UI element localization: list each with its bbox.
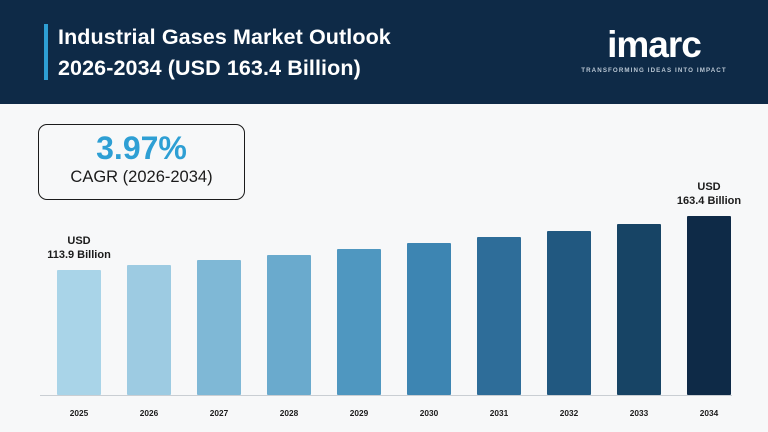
x-tick-2026: 2026 [127,408,171,418]
bar-2028 [267,255,311,395]
imarc-logo: imarc TRANSFORMING IDEAS INTO IMPACT [574,26,734,74]
bar-rect [267,255,311,395]
logo-wordmark: imarc [574,26,734,64]
title-accent-bar [44,24,48,80]
x-tick-2028: 2028 [267,408,311,418]
x-tick-2029: 2029 [337,408,381,418]
x-tick-2034: 2034 [687,408,731,418]
bar-2026 [127,265,171,395]
page-title-line1: Industrial Gases Market Outlook [58,25,391,49]
start-callout-line1: USD [29,235,129,249]
bar-2033 [617,224,661,395]
bar-rect [337,249,381,395]
x-tick-2032: 2032 [547,408,591,418]
logo-tagline: TRANSFORMING IDEAS INTO IMPACT [574,67,734,74]
x-tick-2031: 2031 [477,408,521,418]
x-tick-2025: 2025 [57,408,101,418]
x-tick-2030: 2030 [407,408,451,418]
infographic-page: Industrial Gases Market Outlook 2026-203… [0,0,768,432]
end-callout-line1: USD [659,181,759,195]
x-tick-2033: 2033 [617,408,661,418]
bar-rect [57,270,101,395]
bar-chart: USD 113.9 Billion USD 163.4 Billion 2025… [0,104,768,432]
bar-2034 [687,216,731,395]
bar-2027 [197,260,241,395]
x-tick-2027: 2027 [197,408,241,418]
bar-rect [617,224,661,395]
end-callout-line2: 163.4 Billion [659,195,759,209]
page-title: Industrial Gases Market Outlook 2026-203… [58,22,528,84]
bar-2025 [57,270,101,395]
bar-rect [127,265,171,395]
x-axis-line [40,395,732,396]
bar-rect [197,260,241,395]
bar-2032 [547,231,591,395]
bar-2031 [477,237,521,395]
bar-2030 [407,243,451,395]
page-title-line2: 2026-2034 (USD 163.4 Billion) [58,53,528,84]
start-value-callout: USD 113.9 Billion [29,235,129,262]
bar-rect [477,237,521,395]
bar-rect [547,231,591,395]
start-callout-line2: 113.9 Billion [29,249,129,263]
bar-2029 [337,249,381,395]
bar-rect [407,243,451,395]
end-value-callout: USD 163.4 Billion [659,181,759,208]
bar-rect [687,216,731,395]
header-banner: Industrial Gases Market Outlook 2026-203… [0,0,768,104]
